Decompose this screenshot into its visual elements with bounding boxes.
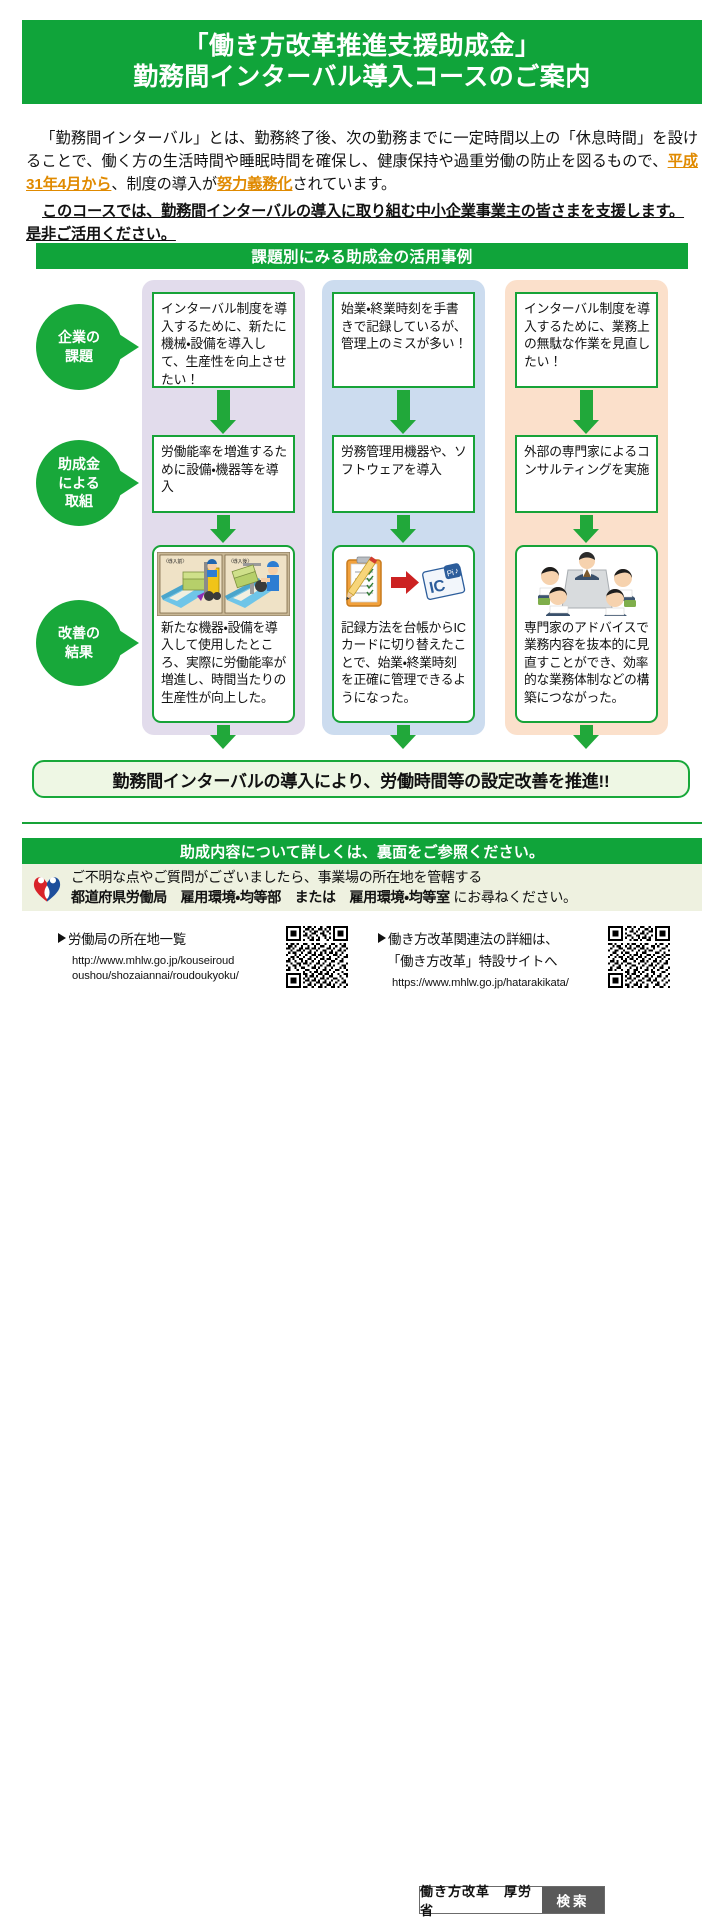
footer-contact-tail: にお尋ねください。 bbox=[450, 889, 577, 905]
cell-action-consulting: 外部の専門家によるコンサルティングを実施 bbox=[515, 435, 658, 513]
down-arrow-icon bbox=[390, 725, 416, 749]
row-badge-line2: 課題 bbox=[65, 347, 93, 366]
url-line-1: https://www.mhlw.go.jp/hatarakikata/ bbox=[392, 976, 628, 991]
row-badge-improvement-result: 改善の 結果 bbox=[36, 600, 122, 686]
search-button[interactable]: 検索 bbox=[542, 1887, 604, 1913]
link-title-roudoukyoku: 労働局の所在地一覧 bbox=[58, 928, 308, 948]
conclusion-text: 勤務間インターバルの導入により、労働時間等の設定改善を推進!! bbox=[113, 767, 610, 792]
footer-reference-text: 助成内容について詳しくは、裏面をご参照ください。 bbox=[180, 841, 544, 862]
footer-reference-bar: 助成内容について詳しくは、裏面をご参照ください。 bbox=[22, 838, 702, 864]
header-title-line2: 勤務間インターバル導入コースのご案内 bbox=[133, 63, 591, 93]
link-block-hatarakikata[interactable]: 働き方改革関連法の詳細は、 「働き方改革」特設サイトへ https://www.… bbox=[378, 928, 628, 991]
cell-issue-software: 始業・終業時刻を手書きで記録しているが、管理上のミスが多い！ bbox=[332, 292, 475, 388]
link-block-roudoukyoku[interactable]: 労働局の所在地一覧 http://www.mhlw.go.jp/kouseiro… bbox=[58, 928, 308, 983]
row-badge-line1: 助成金 bbox=[58, 455, 100, 474]
footer-contact-box: ご不明な点やご質問がございましたら、事業場の所在地を管轄する 都道府県労働局 雇… bbox=[22, 864, 702, 911]
cell-issue-machinery: インターバル制度を導入するために、新たに機械・設備を導入して、生産性を向上させた… bbox=[152, 292, 295, 388]
mhlw-heart-logo bbox=[30, 871, 64, 905]
cell-result-text-machinery: 新たな機器・設備を導入して使用したところ、実際に労働能率が増進し、時間当たりの生… bbox=[154, 617, 293, 710]
row-badge-line1: 改善の bbox=[58, 624, 100, 643]
row-badge-company-issue: 企業の 課題 bbox=[36, 304, 122, 390]
cell-issue-consulting: インターバル制度を導入するために、業務上の無駄な作業を見直したい！ bbox=[515, 292, 658, 388]
row-badge-line3: 取組 bbox=[65, 492, 93, 511]
link-url-hatarakikata[interactable]: https://www.mhlw.go.jp/hatarakikata/ bbox=[378, 976, 628, 991]
intro-text-part2: 、制度の導入が bbox=[111, 176, 217, 193]
cell-action-machinery: 労働能率を増進するために設備・機器等を導入 bbox=[152, 435, 295, 513]
header-title-line1: 「働き方改革推進支援助成金」 bbox=[183, 32, 540, 62]
row-badge-line2: による bbox=[58, 474, 100, 493]
row-badge-line2: 結果 bbox=[65, 643, 93, 662]
triangle-bullet-icon bbox=[378, 933, 386, 943]
cell-result-machinery: 〈導入前〉 〈導入後〉 bbox=[152, 545, 295, 723]
search-keywords: 働き方改革 厚労省 bbox=[420, 1887, 542, 1913]
down-arrow-icon bbox=[210, 725, 236, 749]
down-arrow-icon bbox=[573, 515, 599, 543]
case-matrix: 企業の 課題 助成金 による 取組 改善の 結果 インターバル制度を導入するため… bbox=[0, 280, 724, 742]
intro-text-part3: されています。 bbox=[292, 176, 396, 193]
link-title-text: 労働局の所在地一覧 bbox=[68, 932, 186, 947]
link-title-hatarakikata: 働き方改革関連法の詳細は、 bbox=[378, 928, 628, 948]
cell-result-text-consulting: 専門家のアドバイスで業務内容を抜本的に見直すことができ、効率的な業務体制などの構… bbox=[517, 617, 656, 710]
footer-contact-line1: ご不明な点やご質問がございましたら、事業場の所在地を管轄する bbox=[71, 868, 577, 888]
emphasis-text: このコースでは、勤務間インターバルの導入に取り組む中小企業事業主の皆さまを支援し… bbox=[26, 203, 684, 243]
meeting-consulting-image bbox=[517, 547, 656, 617]
emphasis-paragraph: このコースでは、勤務間インターバルの導入に取り組む中小企業事業主の皆さまを支援し… bbox=[26, 201, 698, 247]
cell-result-software: IC Pi ♪ 記録方法を台帳からICカードに切り替えたことで、始業・終業時刻を… bbox=[332, 545, 475, 723]
section-title-bar: 課題別にみる助成金の活用事例 bbox=[36, 243, 688, 269]
qr-code-hatarakikata[interactable] bbox=[608, 926, 670, 988]
intro-paragraph: 「勤務間インターバル」とは、勤務終了後、次の勤務までに一定時間以上の「休息時間」… bbox=[26, 127, 698, 196]
link-url-roudoukyoku[interactable]: http://www.mhlw.go.jp/kouseiroud oushou/… bbox=[58, 954, 308, 983]
forklift-before-after-image: 〈導入前〉 〈導入後〉 bbox=[154, 547, 293, 617]
row-badge-line1: 企業の bbox=[58, 328, 100, 347]
triangle-bullet-icon bbox=[58, 933, 66, 943]
cell-result-text-software: 記録方法を台帳からICカードに切り替えたことで、始業・終業時刻を正確に管理できる… bbox=[334, 617, 473, 710]
qr-code-roudoukyoku[interactable] bbox=[286, 926, 348, 988]
svg-text:〈導入前〉: 〈導入前〉 bbox=[163, 558, 187, 565]
link-title-text: 働き方改革関連法の詳細は、 bbox=[388, 932, 558, 947]
row-badge-subsidy-action: 助成金 による 取組 bbox=[36, 440, 122, 526]
url-line-2: oushou/shozaiannai/roudoukyoku/ bbox=[72, 969, 308, 984]
down-arrow-icon bbox=[210, 515, 236, 543]
links-section: 労働局の所在地一覧 http://www.mhlw.go.jp/kouseiro… bbox=[0, 918, 724, 1018]
intro-text-part1: 「勤務間インターバル」とは、勤務終了後、次の勤務までに一定時間以上の「休息時間」… bbox=[26, 130, 698, 170]
footer-divider bbox=[22, 822, 702, 824]
clipboard-to-ic-card-image: IC Pi ♪ bbox=[334, 547, 473, 617]
down-arrow-icon bbox=[390, 390, 416, 434]
search-widget[interactable]: 働き方改革 厚労省 検索 bbox=[419, 1886, 605, 1914]
conclusion-banner: 勤務間インターバルの導入により、労働時間等の設定改善を推進!! bbox=[32, 760, 690, 798]
cell-action-software: 労務管理用機器や、ソフトウェアを導入 bbox=[332, 435, 475, 513]
down-arrow-icon bbox=[573, 725, 599, 749]
footer-contact-bold: 都道府県労働局 雇用環境・均等部 または 雇用環境・均等室 bbox=[71, 889, 450, 905]
section-title-text: 課題別にみる助成金の活用事例 bbox=[251, 245, 472, 267]
cell-result-consulting: 専門家のアドバイスで業務内容を抜本的に見直すことができ、効率的な業務体制などの構… bbox=[515, 545, 658, 723]
url-line-1: http://www.mhlw.go.jp/kouseiroud bbox=[72, 954, 308, 969]
footer-contact-text: ご不明な点やご質問がございましたら、事業場の所在地を管轄する 都道府県労働局 雇… bbox=[71, 868, 577, 908]
poster-page: 「働き方改革推進支援助成金」 勤務間インターバル導入コースのご案内 「勤務間イン… bbox=[0, 0, 724, 1024]
down-arrow-icon bbox=[573, 390, 599, 434]
down-arrow-icon bbox=[390, 515, 416, 543]
link-title-text-line2: 「働き方改革」特設サイトへ bbox=[378, 950, 628, 970]
intro-highlight-obligation: 努力義務化 bbox=[217, 176, 292, 193]
down-arrow-icon bbox=[210, 390, 236, 434]
header-banner: 「働き方改革推進支援助成金」 勤務間インターバル導入コースのご案内 bbox=[22, 20, 702, 104]
